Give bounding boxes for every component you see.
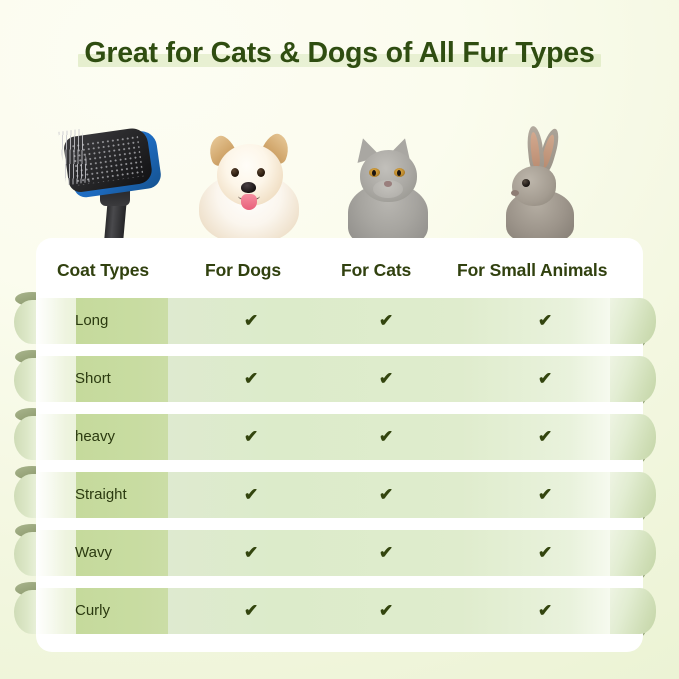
rabbit-eye [522,179,530,187]
rabbit-head [512,166,556,206]
dog-eye-right [257,168,265,177]
check-icon: ✔ [538,544,552,561]
rabbit-image [498,122,588,240]
row-label-wavy: Wavy [75,544,112,561]
check-icon: ✔ [538,312,552,329]
dog-eye-left [231,168,239,177]
check-icon: ✔ [379,370,393,387]
cat-image [340,126,436,240]
check-icon: ✔ [379,312,393,329]
row-label-curly: Curly [75,602,110,619]
row-label-straight: Straight [75,486,127,503]
row-label-long: Long [75,312,108,329]
check-icon: ✔ [379,544,393,561]
check-icon: ✔ [538,486,552,503]
table-text-layer: Coat TypesFor DogsFor CatsFor Small Anim… [0,236,679,656]
dog-image [193,120,305,240]
check-icon: ✔ [538,602,552,619]
cat-pupil-left [372,170,376,176]
check-icon: ✔ [244,370,258,387]
page-title: Great for Cats & Dogs of All Fur Types [84,38,594,69]
cat-nose [384,181,392,187]
column-header-2: For Dogs [205,260,281,281]
dog-tongue [241,194,257,210]
check-icon: ✔ [538,370,552,387]
cat-pupil-right [397,170,401,176]
hero-image-strip [0,108,679,240]
column-header-1: Coat Types [57,260,149,281]
coat-type-table: Coat TypesFor DogsFor CatsFor Small Anim… [0,236,679,656]
row-label-heavy: heavy [75,428,115,445]
check-icon: ✔ [379,602,393,619]
column-header-3: For Cats [341,260,411,281]
check-icon: ✔ [379,428,393,445]
rabbit-nose [511,190,519,196]
check-icon: ✔ [244,312,258,329]
page-title-wrapper: Great for Cats & Dogs of All Fur Types [0,38,679,69]
check-icon: ✔ [244,544,258,561]
promo-infographic: Great for Cats & Dogs of All Fur Types [0,0,679,679]
check-icon: ✔ [538,428,552,445]
column-header-4: For Small Animals [457,260,607,281]
check-icon: ✔ [379,486,393,503]
check-icon: ✔ [244,428,258,445]
slicker-brush-image [60,128,170,243]
check-icon: ✔ [244,486,258,503]
row-label-short: Short [75,370,111,387]
check-icon: ✔ [244,602,258,619]
